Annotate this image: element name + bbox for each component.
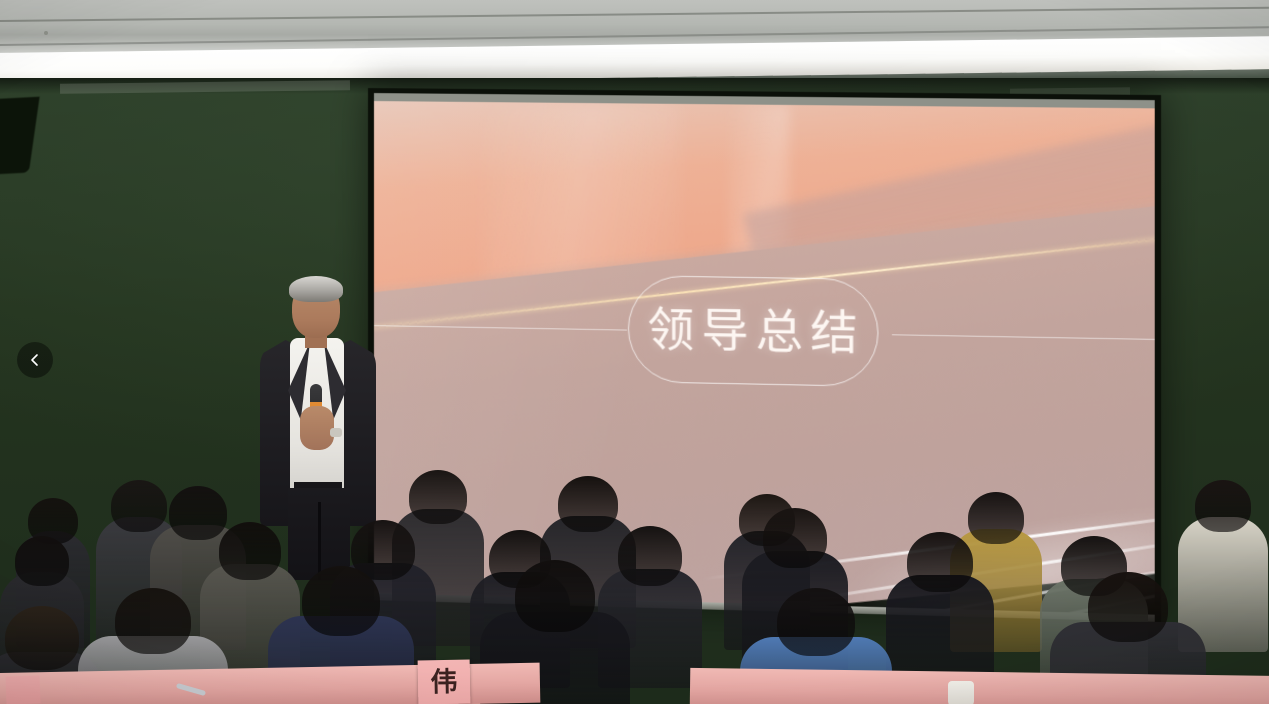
- audience-member-head: [15, 536, 69, 586]
- slide-title-text: 领导总结: [641, 305, 865, 356]
- paper-cup: [948, 681, 974, 704]
- audience-member-head: [907, 532, 973, 592]
- name-placard-secondary: [6, 675, 41, 704]
- name-placard: 伟: [418, 660, 471, 704]
- audience: [0, 440, 1269, 704]
- presenter-hair: [289, 276, 343, 302]
- audience-member-head: [763, 508, 827, 568]
- chevron-left-icon: [27, 352, 43, 368]
- presenter-watch: [330, 428, 342, 437]
- audience-member-head: [777, 588, 855, 656]
- audience-member-head: [5, 606, 79, 670]
- audience-member-head: [115, 588, 191, 654]
- audience-member: [886, 532, 994, 694]
- audience-member-head: [409, 470, 467, 524]
- name-placard-text: 伟: [430, 668, 457, 695]
- audience-member-head: [1195, 480, 1251, 532]
- audience-member-head: [515, 560, 595, 632]
- audience-member-head: [558, 476, 618, 532]
- previous-image-button[interactable]: [17, 342, 53, 378]
- audience-member-head: [302, 566, 380, 636]
- audience-member-head: [1088, 572, 1168, 642]
- slide-title-pill: 领导总结: [628, 275, 878, 387]
- ceiling-fixture-dot: [44, 31, 48, 35]
- ceiling-seam: [0, 7, 1269, 22]
- screenshot-root: 领导总结 伟: [0, 0, 1269, 704]
